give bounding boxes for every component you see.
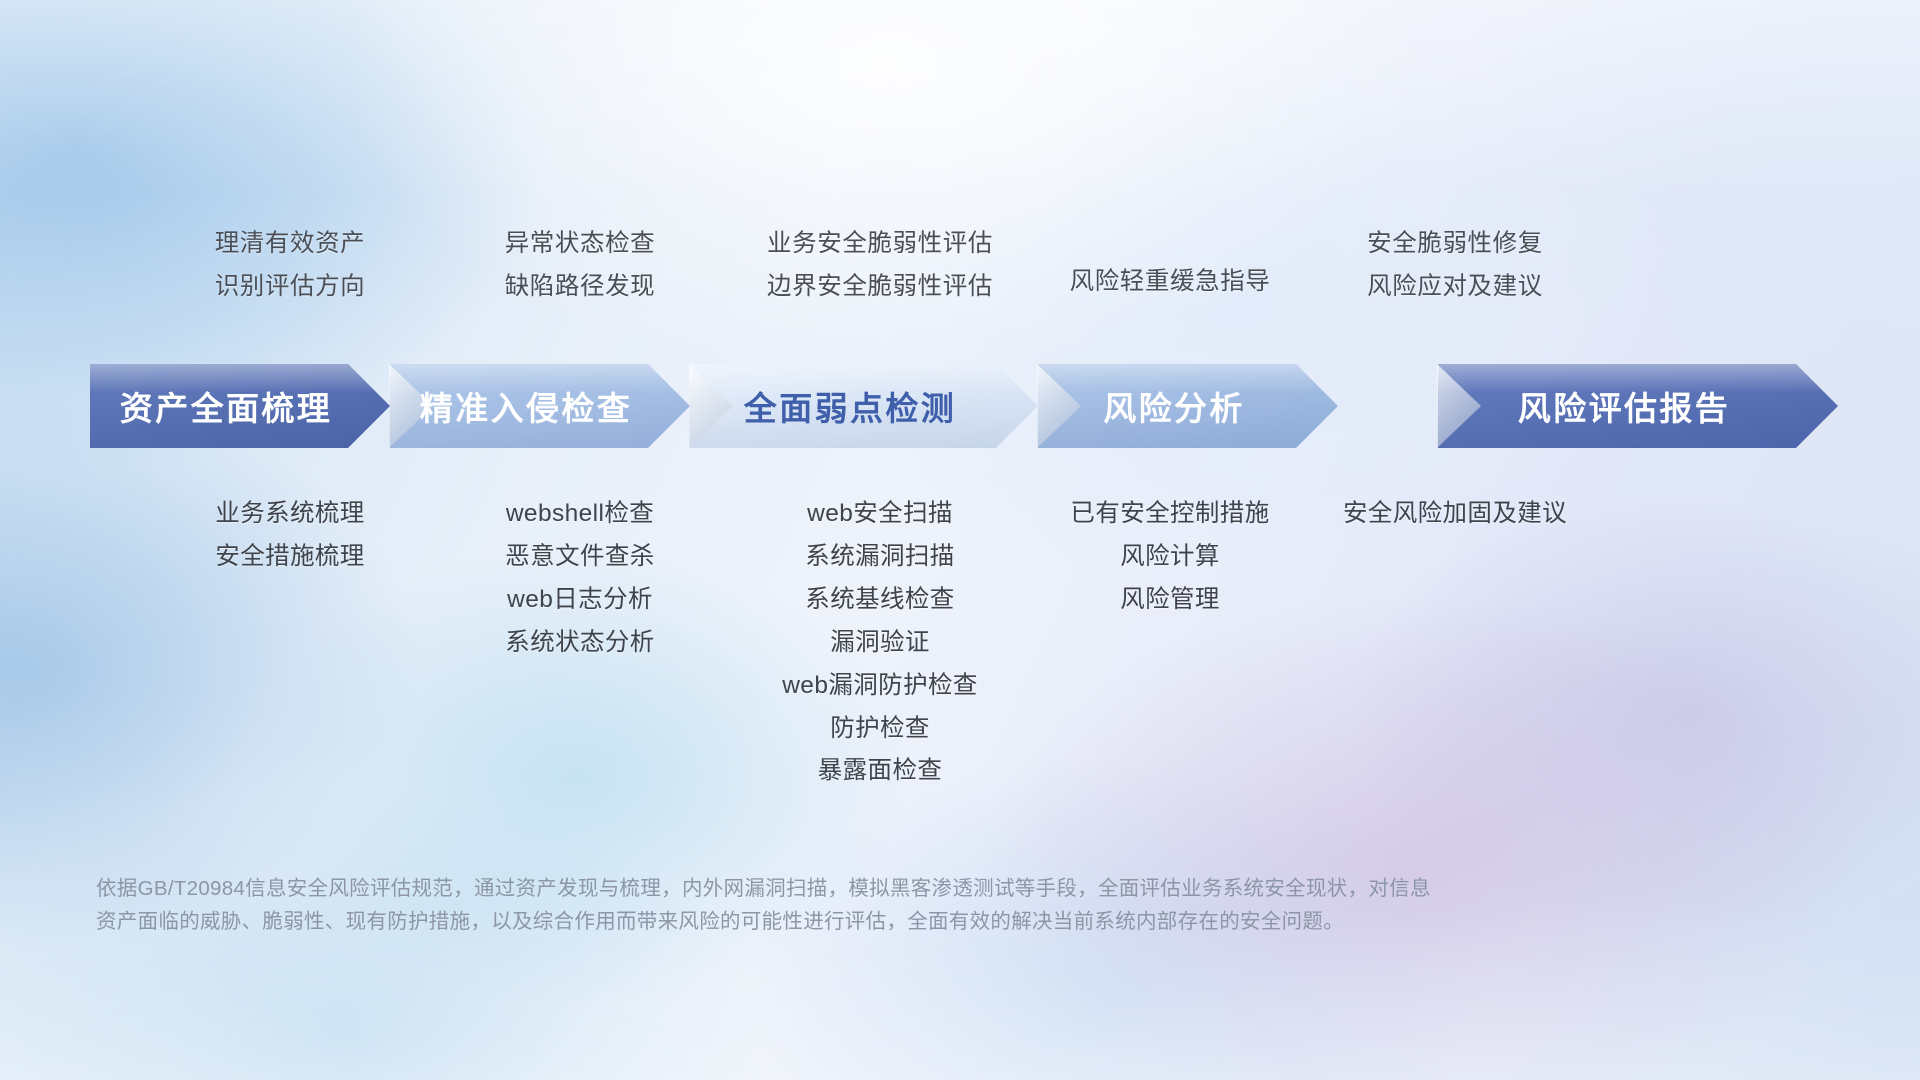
top-note-item: 识别评估方向 (215, 273, 366, 302)
footer-description: 依据GB/T20984信息安全风险评估规范，通过资产发现与梳理，内外网漏洞扫描，… (96, 872, 1716, 938)
process-stage-assessment-report[interactable]: 风险评估报告 (1438, 364, 1838, 448)
bottom-note-item: 风险计算 (1120, 543, 1220, 572)
bottom-note-item: 安全措施梳理 (215, 543, 364, 572)
bottom-note-item: 安全风险加固及建议 (1343, 500, 1567, 529)
stage-title: 风险分析 (1103, 382, 1245, 430)
footer-line-2: 资产面临的威胁、脆弱性、现有防护措施，以及综合作用而带来风险的可能性进行评估，全… (96, 905, 1716, 938)
bottom-note-column-assessment-report: 安全风险加固及建议 (1235, 500, 1675, 529)
bottom-note-item: 暴露面检查 (818, 757, 943, 786)
diagram-content: 理清有效资产识别评估方向异常状态检查缺陷路径发现业务安全脆弱性评估边界安全脆弱性… (0, 0, 1920, 1080)
top-notes-row: 理清有效资产识别评估方向异常状态检查缺陷路径发现业务安全脆弱性评估边界安全脆弱性… (90, 230, 1830, 231)
bottom-note-item: web安全扫描 (807, 500, 953, 529)
note-list: 安全风险加固及建议 (1235, 500, 1675, 529)
process-stage-intrusion-check[interactable]: 精准入侵检查 (390, 364, 690, 448)
top-note-item: 业务安全脆弱性评估 (767, 230, 993, 259)
process-stage-weakness-detection[interactable]: 全面弱点检测 (690, 364, 1038, 448)
stage-title: 全面弱点检测 (744, 382, 956, 430)
top-note-item: 风险应对及建议 (1367, 273, 1543, 302)
stage-title: 风险评估报告 (1518, 382, 1730, 430)
process-stage-asset-inventory[interactable]: 资产全面梳理 (90, 364, 390, 448)
top-note-item: 异常状态检查 (505, 230, 656, 259)
bottom-note-item: 风险管理 (1120, 586, 1220, 615)
bottom-note-item: 系统基线检查 (805, 586, 954, 615)
bottom-note-item: 业务系统梳理 (215, 500, 364, 529)
stage-title: 精准入侵检查 (420, 382, 632, 430)
bottom-note-item: 系统漏洞扫描 (805, 543, 954, 572)
process-chevron-band: 资产全面梳理精准入侵检查全面弱点检测风险分析风险评估报告 (90, 364, 1838, 448)
bottom-note-item: 恶意文件查杀 (505, 543, 654, 572)
top-note-item: 缺陷路径发现 (505, 273, 656, 302)
top-note-item: 安全脆弱性修复 (1367, 230, 1543, 259)
bottom-notes-row: 业务系统梳理安全措施梳理webshell检查恶意文件查杀web日志分析系统状态分… (90, 500, 1830, 501)
bottom-note-item: web日志分析 (507, 586, 653, 615)
bottom-note-item: webshell检查 (506, 500, 654, 529)
bottom-note-item: 防护检查 (830, 715, 930, 744)
slide-canvas: 理清有效资产识别评估方向异常状态检查缺陷路径发现业务安全脆弱性评估边界安全脆弱性… (0, 0, 1920, 1080)
bottom-note-item: 系统状态分析 (505, 629, 654, 658)
process-stage-risk-analysis[interactable]: 风险分析 (1038, 364, 1338, 448)
note-list: 安全脆弱性修复风险应对及建议 (1235, 230, 1675, 302)
footer-line-1: 依据GB/T20984信息安全风险评估规范，通过资产发现与梳理，内外网漏洞扫描，… (96, 872, 1716, 905)
top-note-column-assessment-report: 安全脆弱性修复风险应对及建议 (1235, 230, 1675, 302)
stage-title: 资产全面梳理 (120, 382, 332, 430)
bottom-note-item: 漏洞验证 (830, 629, 930, 658)
top-note-item: 理清有效资产 (215, 230, 366, 259)
bottom-note-item: web漏洞防护检查 (782, 672, 978, 701)
